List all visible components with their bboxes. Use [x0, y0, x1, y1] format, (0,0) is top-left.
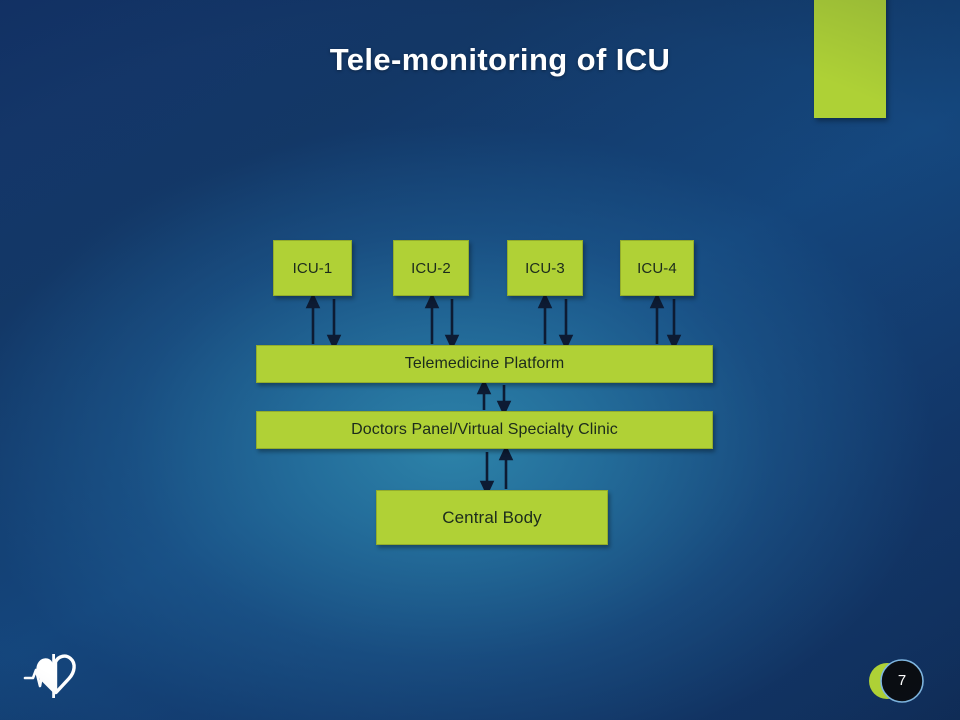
- tele-monitoring-diagram: ICU-1 ICU-2 ICU-3 ICU-4 Telemedicine Pla…: [0, 0, 960, 720]
- node-label: ICU-4: [637, 260, 677, 277]
- node-telemedicine-platform[interactable]: Telemedicine Platform: [256, 345, 713, 383]
- node-central-body[interactable]: Central Body: [376, 490, 608, 545]
- node-label: ICU-3: [525, 260, 565, 277]
- slide-canvas: Tele-monitoring of ICU: [0, 0, 960, 720]
- node-doctors-panel[interactable]: Doctors Panel/Virtual Specialty Clinic: [256, 411, 713, 449]
- node-label: ICU-1: [293, 260, 333, 277]
- node-label: ICU-2: [411, 260, 451, 277]
- node-label: Doctors Panel/Virtual Specialty Clinic: [351, 421, 618, 439]
- node-icu-4[interactable]: ICU-4: [620, 240, 694, 296]
- node-label: Central Body: [442, 508, 541, 528]
- page-number: 7: [880, 658, 924, 702]
- node-icu-3[interactable]: ICU-3: [507, 240, 583, 296]
- node-icu-1[interactable]: ICU-1: [273, 240, 352, 296]
- node-label: Telemedicine Platform: [405, 355, 565, 373]
- node-icu-2[interactable]: ICU-2: [393, 240, 469, 296]
- heart-pulse-logo: [22, 650, 84, 700]
